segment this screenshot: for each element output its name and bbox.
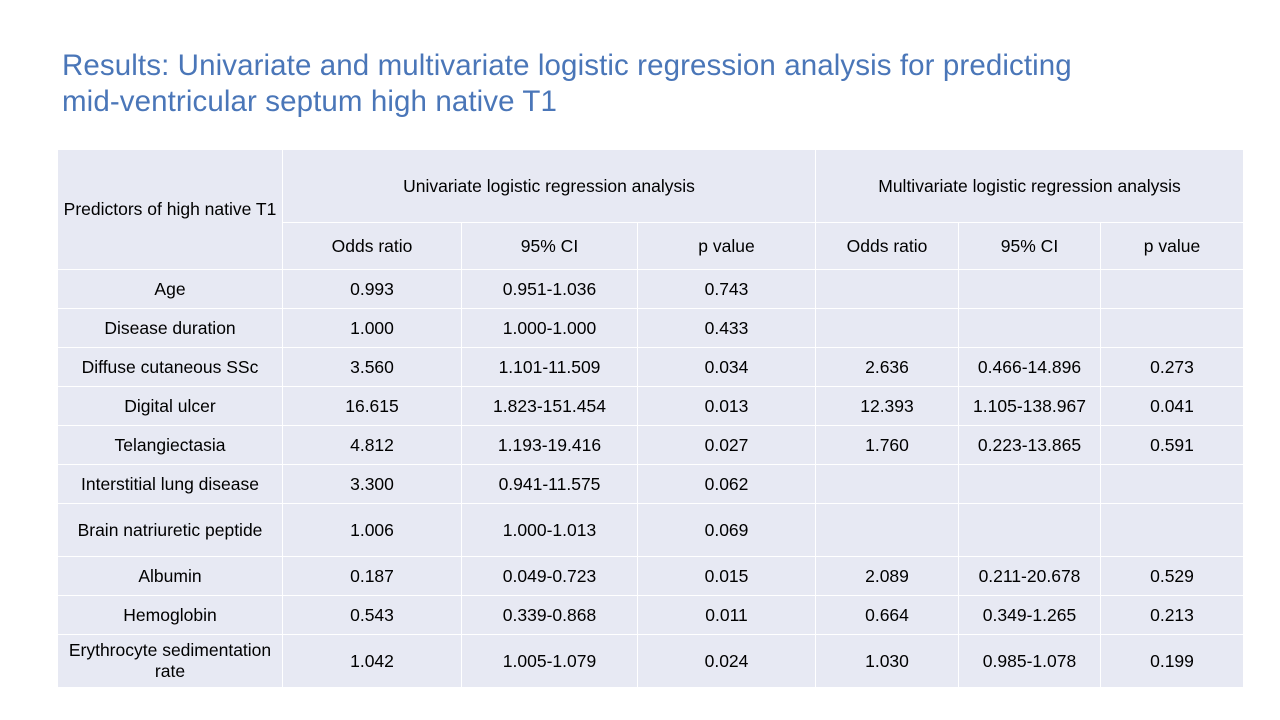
cell-predictor: Digital ulcer [58,387,283,426]
cell-predictor: Erythrocyte sedimentation rate [58,635,283,688]
column-header-multi-odds-ratio: Odds ratio [816,223,959,270]
cell-uni-p-value: 0.024 [638,635,816,688]
column-group-header-univariate: Univariate logistic regression analysis [283,150,816,223]
table-body: Age0.9930.951-1.0360.743Disease duration… [58,270,1244,688]
cell-uni-odds-ratio: 0.993 [283,270,462,309]
cell-multi-odds-ratio: 1.760 [816,426,959,465]
column-header-uni-p-value: p value [638,223,816,270]
cell-uni-p-value: 0.013 [638,387,816,426]
cell-uni-odds-ratio: 3.560 [283,348,462,387]
cell-uni-ci: 0.941-11.575 [462,465,638,504]
results-table: Predictors of high native T1 Univariate … [57,149,1244,688]
cell-uni-ci: 1.101-11.509 [462,348,638,387]
cell-multi-ci: 1.105-138.967 [959,387,1101,426]
column-header-multi-ci: 95% CI [959,223,1101,270]
cell-uni-odds-ratio: 1.042 [283,635,462,688]
cell-multi-odds-ratio: 1.030 [816,635,959,688]
column-header-uni-ci: 95% CI [462,223,638,270]
cell-multi-p-value: 0.041 [1101,387,1244,426]
table-row: Age0.9930.951-1.0360.743 [58,270,1244,309]
cell-multi-p-value [1101,504,1244,557]
cell-uni-odds-ratio: 1.006 [283,504,462,557]
cell-multi-odds-ratio [816,504,959,557]
cell-predictor: Diffuse cutaneous SSc [58,348,283,387]
cell-multi-ci [959,465,1101,504]
cell-uni-p-value: 0.015 [638,557,816,596]
table-header: Predictors of high native T1 Univariate … [58,150,1244,270]
cell-multi-p-value: 0.199 [1101,635,1244,688]
cell-multi-odds-ratio: 12.393 [816,387,959,426]
cell-multi-p-value [1101,270,1244,309]
cell-predictor: Brain natriuretic peptide [58,504,283,557]
cell-multi-p-value: 0.529 [1101,557,1244,596]
cell-multi-ci: 0.985-1.078 [959,635,1101,688]
cell-multi-odds-ratio: 2.636 [816,348,959,387]
cell-uni-ci: 0.339-0.868 [462,596,638,635]
cell-uni-ci: 0.951-1.036 [462,270,638,309]
slide-canvas: Results: Univariate and multivariate log… [0,0,1280,720]
table-row: Albumin0.1870.049-0.7230.0152.0890.211-2… [58,557,1244,596]
cell-uni-ci: 1.000-1.000 [462,309,638,348]
column-header-uni-odds-ratio: Odds ratio [283,223,462,270]
column-group-header-multivariate: Multivariate logistic regression analysi… [816,150,1244,223]
cell-uni-p-value: 0.069 [638,504,816,557]
cell-predictor: Age [58,270,283,309]
cell-uni-p-value: 0.433 [638,309,816,348]
cell-uni-ci: 0.049-0.723 [462,557,638,596]
table-row: Diffuse cutaneous SSc3.5601.101-11.5090.… [58,348,1244,387]
cell-uni-p-value: 0.011 [638,596,816,635]
cell-uni-odds-ratio: 1.000 [283,309,462,348]
cell-multi-odds-ratio [816,270,959,309]
cell-uni-ci: 1.005-1.079 [462,635,638,688]
cell-multi-ci: 0.349-1.265 [959,596,1101,635]
cell-uni-ci: 1.193-19.416 [462,426,638,465]
cell-uni-ci: 1.823-151.454 [462,387,638,426]
table-row: Digital ulcer16.6151.823-151.4540.01312.… [58,387,1244,426]
cell-predictor: Interstitial lung disease [58,465,283,504]
cell-multi-ci: 0.466-14.896 [959,348,1101,387]
column-header-multi-p-value: p value [1101,223,1244,270]
cell-uni-p-value: 0.034 [638,348,816,387]
cell-multi-p-value: 0.213 [1101,596,1244,635]
cell-multi-odds-ratio [816,465,959,504]
table-header-group-row: Predictors of high native T1 Univariate … [58,150,1244,223]
table-row: Hemoglobin0.5430.339-0.8680.0110.6640.34… [58,596,1244,635]
cell-multi-ci [959,270,1101,309]
cell-multi-odds-ratio [816,309,959,348]
table-row: Telangiectasia4.8121.193-19.4160.0271.76… [58,426,1244,465]
cell-predictor: Disease duration [58,309,283,348]
cell-multi-p-value: 0.273 [1101,348,1244,387]
cell-multi-ci: 0.223-13.865 [959,426,1101,465]
cell-uni-odds-ratio: 4.812 [283,426,462,465]
cell-uni-odds-ratio: 0.187 [283,557,462,596]
cell-predictor: Albumin [58,557,283,596]
table-row: Erythrocyte sedimentation rate1.0421.005… [58,635,1244,688]
cell-predictor: Hemoglobin [58,596,283,635]
cell-uni-odds-ratio: 0.543 [283,596,462,635]
cell-uni-p-value: 0.743 [638,270,816,309]
results-table-container: Predictors of high native T1 Univariate … [57,149,1243,688]
column-header-predictors: Predictors of high native T1 [58,150,283,270]
cell-multi-odds-ratio: 0.664 [816,596,959,635]
cell-uni-odds-ratio: 3.300 [283,465,462,504]
table-row: Interstitial lung disease3.3000.941-11.5… [58,465,1244,504]
cell-multi-ci: 0.211-20.678 [959,557,1101,596]
table-row: Brain natriuretic peptide1.0061.000-1.01… [58,504,1244,557]
cell-predictor: Telangiectasia [58,426,283,465]
page-title: Results: Univariate and multivariate log… [62,48,1182,120]
cell-multi-odds-ratio: 2.089 [816,557,959,596]
cell-uni-odds-ratio: 16.615 [283,387,462,426]
cell-multi-ci [959,309,1101,348]
cell-multi-ci [959,504,1101,557]
cell-uni-p-value: 0.062 [638,465,816,504]
cell-uni-p-value: 0.027 [638,426,816,465]
table-row: Disease duration1.0001.000-1.0000.433 [58,309,1244,348]
cell-multi-p-value [1101,465,1244,504]
cell-uni-ci: 1.000-1.013 [462,504,638,557]
cell-multi-p-value: 0.591 [1101,426,1244,465]
cell-multi-p-value [1101,309,1244,348]
